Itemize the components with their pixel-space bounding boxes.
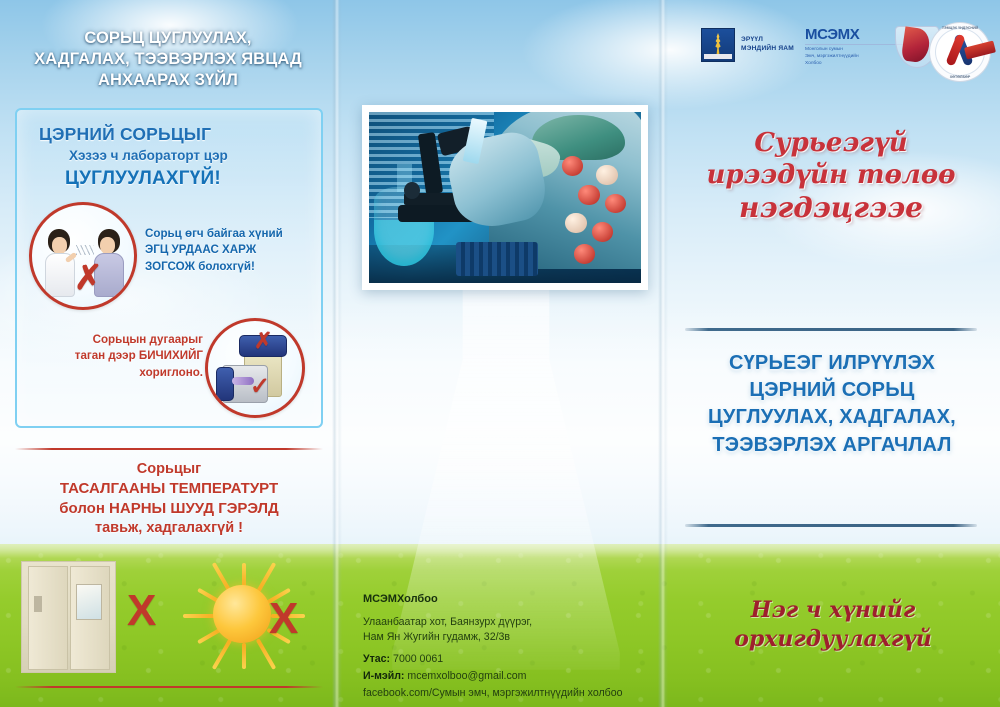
heading-line-4: ТЭЭВЭРЛЭХ АРГАЧЛАЛ	[679, 432, 985, 459]
mcemx-sub-line-3: Холбоо	[805, 60, 913, 67]
script-top-line-1: Сурьеэгүй	[681, 128, 981, 160]
left-title-line-3: АНХААРАХ ЗҮЙЛ	[12, 70, 324, 91]
organization-name: МСЭМХолбоо	[363, 592, 653, 608]
ministry-line-1: ЭРҮҮЛ	[741, 36, 794, 45]
people-note-line-2: ЭГЦ УРДААС ХАРЖ	[145, 242, 315, 258]
divider-blue-top	[685, 328, 977, 331]
ministry-of-health-logo: ЭРҮҮЛ МЭНДИЙН ЯАМ	[701, 28, 794, 62]
x-mark-icon: X	[127, 589, 156, 633]
divider-red-top	[15, 448, 323, 450]
two-people-facing-icon: ✗	[29, 202, 137, 310]
ministry-line-2: МЭНДИЙН ЯАМ	[741, 45, 794, 54]
jar-note-line-3: хориглоно.	[37, 365, 203, 381]
script-bottom-line-2: орхигдуулахгүй	[687, 625, 979, 654]
divider-blue-bottom	[685, 524, 977, 527]
address-line-2: Нам Ян Жугийн гудамж, 32/3в	[363, 630, 653, 645]
script-bottom-line-1: Нэг ч хүнийг	[687, 596, 979, 625]
ribbon-arc-top: ТЭМЦЭХ ҮНДЭСНИЙ	[929, 26, 991, 30]
script-slogan-bottom: Нэг ч хүнийг орхигдуулахгүй	[687, 596, 979, 653]
soyombo-emblem-icon	[701, 28, 735, 62]
script-top-line-3: нэгдэцгээе	[681, 191, 981, 225]
email-label: И-мэйл:	[363, 670, 404, 682]
storage-line-3: болон НАРНЫ ШУУД ГЭРЭЛД	[18, 499, 320, 519]
phone-value: 7000 0061	[393, 653, 443, 665]
script-slogan-top: Сурьеэгүй ирээдүйн төлөө нэгдэцгээе	[681, 128, 981, 226]
people-note-line-1: Сорьц өгч байгаа хүний	[145, 226, 315, 242]
brochure-main-heading: СҮРЬЕЭГ ИЛРҮҮЛЭХ ЦЭРНИЙ СОРЬЦ ЦУГЛУУЛАХ,…	[679, 350, 985, 459]
facebook-link[interactable]: facebook.com/Сумын эмч, мэргэжилтнүүдийн…	[363, 686, 653, 701]
sample-jar-icon: ✗ ✓	[205, 318, 305, 418]
email-value[interactable]: mcemxolboo@gmail.com	[407, 670, 526, 682]
people-note-line-3: ЗОГСОЖ болохгүй!	[145, 259, 315, 275]
address-line-1: Улаанбаатар хот, Баянзурх дүүрэг,	[363, 615, 653, 630]
warn-card-heading-1: ЦЭРНИЙ СОРЬЦЫГ	[39, 124, 211, 145]
heading-line-2: ЦЭРНИЙ СОРЬЦ	[679, 377, 985, 404]
brochure-page: СОРЬЦ ЦУГЛУУЛАХ, ХАДГАЛАХ, ТЭЭВЭРЛЭХ ЯВЦ…	[0, 0, 1000, 707]
storage-line-4: тавьж, хадгалахгүй !	[18, 519, 320, 538]
storage-warning-text: Сорьцыг ТАСАЛГААНЫ ТЕМПЕРАТУРТ болон НАР…	[18, 460, 320, 538]
heading-line-3: ЦУГЛУУЛАХ, ХАДГАЛАХ,	[679, 404, 985, 431]
center-panel: МСЭМХолбоо Улаанбаатар хот, Баянзурх дүү…	[337, 0, 663, 707]
jar-note-line-1: Сорьцын дугаарыг	[37, 332, 203, 348]
check-mark-icon: ✓	[250, 375, 270, 399]
warn-card-heading-2: Хэзээ ч лабораторт цэр	[69, 148, 228, 163]
phone-label: Утас:	[363, 653, 390, 665]
x-mark-icon: ✗	[74, 261, 103, 295]
storage-photos-row: X X	[15, 555, 323, 680]
logo-row: ЭРҮҮЛ МЭНДИЙН ЯАМ МСЭМХ Монголын сумын Э…	[701, 22, 993, 84]
ribbon-arc-bottom: ХӨТӨЛБӨР	[929, 75, 991, 79]
warn-card-heading-3: ЦУГЛУУЛАХГҮЙ!	[65, 168, 221, 190]
jar-warning-note: Сорьцын дугаарыг таган дээр БИЧИХИЙГ хор…	[37, 332, 203, 381]
right-panel: ЭРҮҮЛ МЭНДИЙН ЯАМ МСЭМХ Монголын сумын Э…	[663, 0, 1000, 707]
molecule-model	[554, 156, 636, 265]
left-panel: СОРЬЦ ЦУГЛУУЛАХ, ХАДГАЛАХ, ТЭЭВЭРЛЭХ ЯВЦ…	[0, 0, 337, 707]
x-mark-icon: X	[269, 597, 298, 641]
lab-photo-frame	[362, 105, 648, 290]
contact-block: МСЭМХолбоо Улаанбаатар хот, Баянзурх дүү…	[363, 592, 653, 702]
script-top-line-2: ирээдүйн төлөө	[681, 160, 981, 192]
storage-line-1: Сорьцыг	[18, 460, 320, 479]
storage-line-2: ТАСАЛГААНЫ ТЕМПЕРАТУРТ	[18, 479, 320, 499]
email-row: И-мэйл: mcemxolboo@gmail.com	[363, 669, 653, 684]
hospital-door-photo	[21, 561, 116, 673]
people-warning-note: Сорьц өгч байгаа хүний ЭГЦ УРДААС ХАРЖ З…	[145, 226, 315, 275]
ministry-logo-text: ЭРҮҮЛ МЭНДИЙН ЯАМ	[741, 36, 794, 54]
mcemx-logo: МСЭМХ Монголын сумын Эмч, мэргэжилтнүүди…	[805, 26, 913, 68]
phone-row: Утас: 7000 0061	[363, 652, 653, 667]
divider-red-bottom	[15, 686, 323, 688]
left-panel-title: СОРЬЦ ЦУГЛУУЛАХ, ХАДГАЛАХ, ТЭЭВЭРЛЭХ ЯВЦ…	[12, 28, 324, 91]
left-title-line-2: ХАДГАЛАХ, ТЭЭВЭРЛЭХ ЯВЦАД	[12, 49, 324, 70]
heading-line-1: СҮРЬЕЭГ ИЛРҮҮЛЭХ	[679, 350, 985, 377]
mcemx-sub-line-2: Эмч, мэргэжилтнүүдийн	[805, 53, 913, 60]
sputum-warning-card: ЦЭРНИЙ СОРЬЦЫГ Хэзээ ч лабораторт цэр ЦУ…	[15, 108, 323, 428]
left-title-line-1: СОРЬЦ ЦУГЛУУЛАХ,	[12, 28, 324, 49]
jar-note-line-2: таган дээр БИЧИХИЙГ	[37, 348, 203, 364]
x-mark-icon: ✗	[254, 330, 272, 352]
red-ribbon-circular-logo: ТЭМЦЭХ ҮНДЭСНИЙ ХӨТӨЛБӨР	[929, 22, 991, 82]
laboratory-scientist-microscope-photo	[369, 112, 641, 283]
